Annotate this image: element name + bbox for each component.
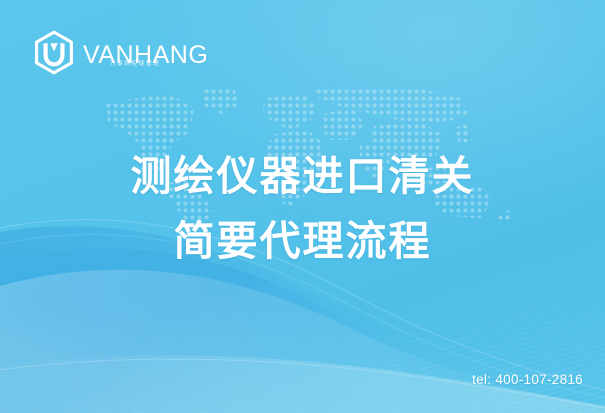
headline-line-2: 简要代理流程 <box>0 209 605 274</box>
hexagon-v-monogram-icon <box>33 30 75 80</box>
contact-phone: tel: 400-107-2816 <box>472 372 583 387</box>
brand-wordmark: VANHANG 万享供应链管理 <box>83 43 208 68</box>
diagonal-stripe-texture-lower-icon <box>0 313 400 413</box>
headline-line-1: 测绘仪器进口清关 <box>0 144 605 209</box>
brand-subtitle: 万享供应链管理 <box>110 62 160 68</box>
promo-banner: VANHANG 万享供应链管理 测绘仪器进口清关 简要代理流程 tel: 400… <box>0 0 605 413</box>
page-title: 测绘仪器进口清关 简要代理流程 <box>0 144 605 274</box>
brand-logo: VANHANG 万享供应链管理 <box>33 30 208 80</box>
